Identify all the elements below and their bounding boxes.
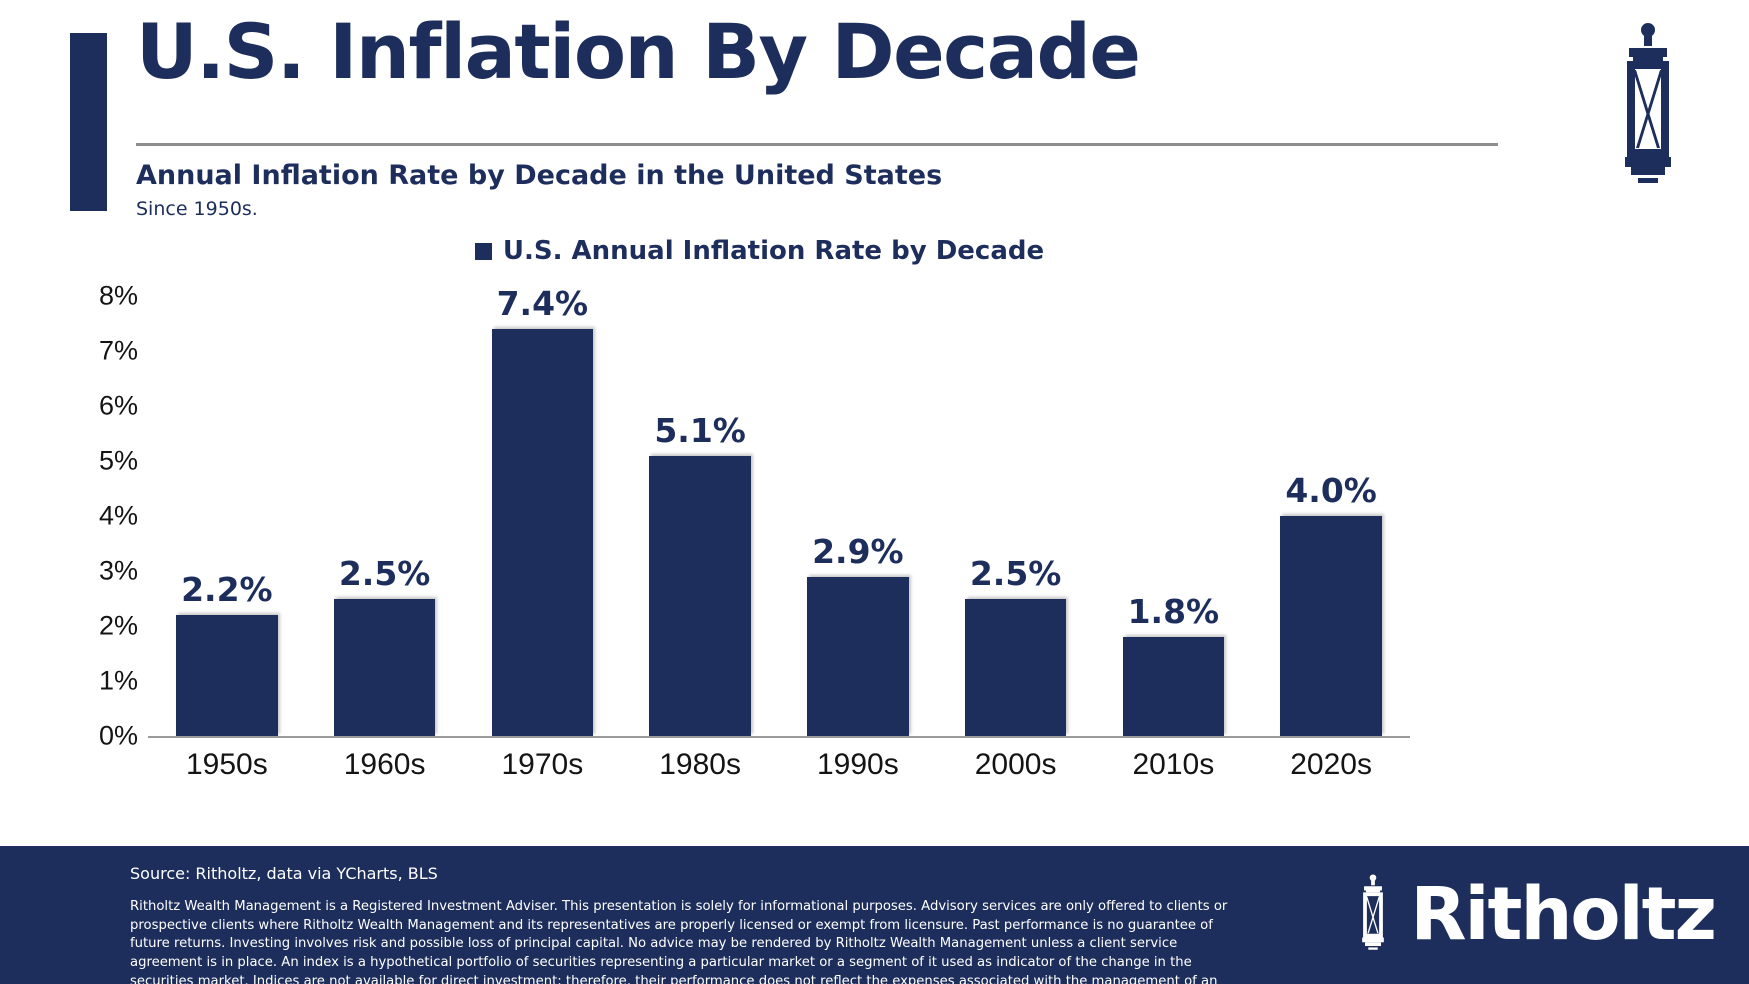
bar-slot: 5.1%	[621, 296, 779, 736]
chart-legend: U.S. Annual Inflation Rate by Decade	[0, 236, 1749, 266]
x-axis-tick-1980s: 1980s	[621, 748, 779, 782]
x-axis-tick-2000s: 2000s	[937, 748, 1095, 782]
bar-value-label: 7.4%	[492, 284, 594, 323]
bar-slot: 2.5%	[937, 296, 1095, 736]
header: U.S. Inflation By Decade Annual Inflatio…	[0, 0, 1749, 240]
bar-slot: 1.8%	[1095, 296, 1253, 736]
lantern-icon	[1605, 22, 1691, 192]
x-axis-tick-1960s: 1960s	[306, 748, 464, 782]
lantern-icon	[1350, 874, 1396, 954]
bar-slot: 2.2%	[148, 296, 306, 736]
bar-value-label: 2.2%	[176, 570, 278, 609]
bar[interactable]: 4.0%	[1280, 516, 1382, 736]
bar[interactable]: 1.8%	[1123, 637, 1225, 736]
brand-name: Ritholtz	[1410, 878, 1715, 951]
bar-value-label: 1.8%	[1123, 592, 1225, 631]
source-note: Source: Ritholtz, data via YCharts, BLS	[130, 864, 438, 883]
disclaimer-text: Ritholtz Wealth Management is a Register…	[130, 898, 1240, 984]
bar-value-label: 5.1%	[649, 411, 751, 450]
brand-logo: Ritholtz	[1350, 874, 1715, 954]
bar-value-label: 2.5%	[965, 554, 1067, 593]
bar[interactable]: 2.9%	[807, 577, 909, 737]
y-axis-tick-1: 1%	[58, 666, 138, 697]
accent-bar	[70, 33, 107, 211]
bar-value-label: 2.9%	[807, 532, 909, 571]
x-axis-tick-1970s: 1970s	[464, 748, 622, 782]
page-subtitle: Annual Inflation Rate by Decade in the U…	[136, 160, 942, 191]
y-axis-tick-2: 2%	[58, 611, 138, 642]
y-axis-tick-3: 3%	[58, 556, 138, 587]
bar-chart: 8% 7% 6% 5% 4% 3% 2% 1% 0% 2.2%2.5%7.4%5…	[0, 278, 1749, 838]
y-axis-tick-7: 7%	[58, 336, 138, 367]
y-axis-tick-8: 8%	[58, 281, 138, 312]
x-axis-tick-2010s: 2010s	[1095, 748, 1253, 782]
bar-value-label: 2.5%	[334, 554, 436, 593]
y-axis-tick-4: 4%	[58, 501, 138, 532]
bar-slot: 4.0%	[1252, 296, 1410, 736]
x-axis-tick-2020s: 2020s	[1252, 748, 1410, 782]
footer: Source: Ritholtz, data via YCharts, BLS …	[0, 846, 1749, 984]
x-axis-ticks: 1950s1960s1970s1980s1990s2000s2010s2020s	[148, 748, 1410, 782]
legend-item[interactable]: U.S. Annual Inflation Rate by Decade	[475, 236, 1044, 266]
page-subtitle-note: Since 1950s.	[136, 198, 258, 220]
y-axis-tick-6: 6%	[58, 391, 138, 422]
bar[interactable]: 7.4%	[492, 329, 594, 736]
y-axis-tick-5: 5%	[58, 446, 138, 477]
legend-item-label: U.S. Annual Inflation Rate by Decade	[503, 236, 1044, 266]
bar[interactable]: 2.5%	[965, 599, 1067, 737]
bar-series: 2.2%2.5%7.4%5.1%2.9%2.5%1.8%4.0%	[148, 296, 1410, 736]
bar[interactable]: 5.1%	[649, 456, 751, 737]
bar-slot: 2.5%	[306, 296, 464, 736]
page-title: U.S. Inflation By Decade	[136, 14, 1139, 90]
x-axis-tick-1950s: 1950s	[148, 748, 306, 782]
y-axis-tick-0: 0%	[58, 721, 138, 752]
bar[interactable]: 2.5%	[334, 599, 436, 737]
title-divider	[136, 143, 1498, 146]
infographic-page: U.S. Inflation By Decade Annual Inflatio…	[0, 0, 1749, 984]
x-axis-tick-1990s: 1990s	[779, 748, 937, 782]
legend-swatch-icon	[475, 243, 492, 260]
x-axis-line	[148, 736, 1410, 738]
bar-value-label: 4.0%	[1280, 471, 1382, 510]
bar-slot: 2.9%	[779, 296, 937, 736]
bar[interactable]: 2.2%	[176, 615, 278, 736]
bar-slot: 7.4%	[464, 296, 622, 736]
